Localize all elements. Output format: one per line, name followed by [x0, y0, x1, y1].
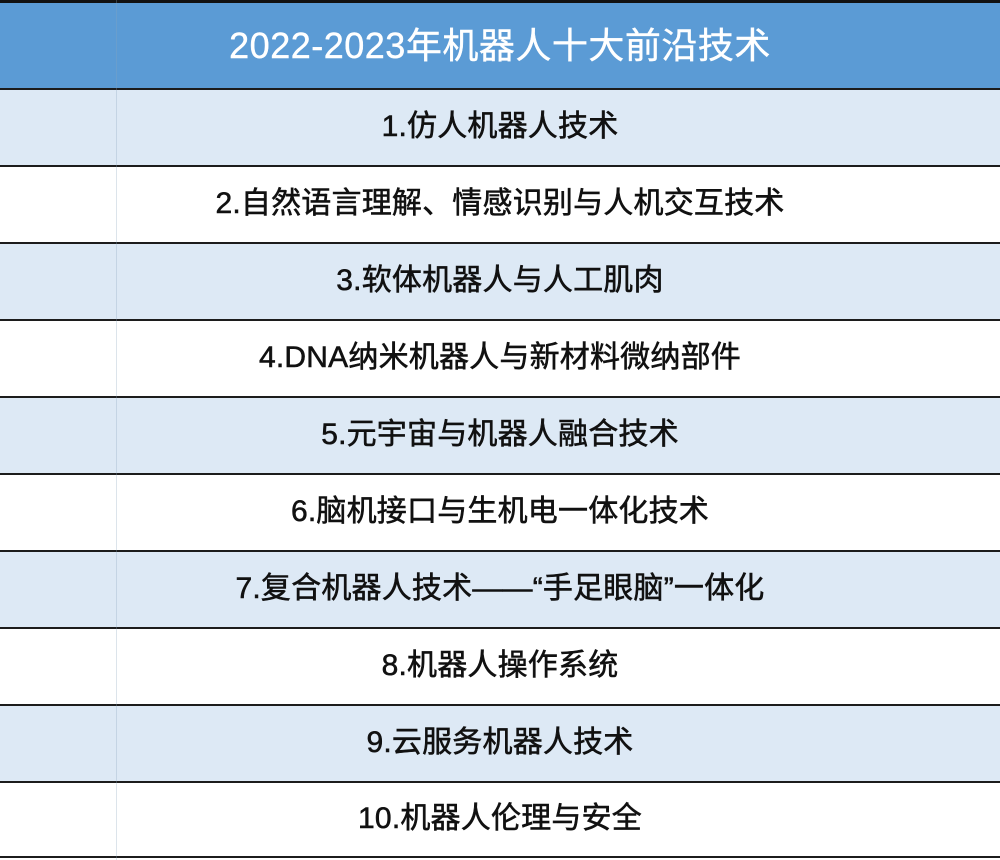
row-label-6: 6.脑机接口与生机电一体化技术: [291, 495, 709, 530]
row-label-10: 10.机器人伦理与安全: [358, 802, 642, 837]
table-row[interactable]: 4.DNA纳米机器人与新材料微纳部件: [0, 319, 1000, 396]
table-row[interactable]: 3.软体机器人与人工肌肉: [0, 242, 1000, 319]
table-header-row: 2022-2023年机器人十大前沿技术: [0, 0, 1000, 88]
row-label-5: 5.元宇宙与机器人融合技术: [321, 418, 679, 453]
table-row[interactable]: 9.云服务机器人技术: [0, 704, 1000, 781]
row-label-2: 2.自然语言理解、情感识别与人机交互技术: [215, 187, 784, 222]
table-row[interactable]: 5.元宇宙与机器人融合技术: [0, 396, 1000, 473]
technology-list-table: 2022-2023年机器人十大前沿技术 1.仿人机器人技术 2.自然语言理解、情…: [0, 0, 1000, 860]
row-label-9: 9.云服务机器人技术: [366, 726, 633, 761]
table-row[interactable]: 10.机器人伦理与安全: [0, 781, 1000, 858]
row-label-8: 8.机器人操作系统: [382, 649, 619, 684]
table-row[interactable]: 6.脑机接口与生机电一体化技术: [0, 473, 1000, 550]
table-row[interactable]: 7.复合机器人技术——“手足眼脑”一体化: [0, 550, 1000, 627]
row-label-1: 1.仿人机器人技术: [382, 110, 619, 145]
table-title: 2022-2023年机器人十大前沿技术: [229, 25, 771, 66]
row-label-3: 3.软体机器人与人工肌肉: [336, 264, 663, 299]
table-row[interactable]: 2.自然语言理解、情感识别与人机交互技术: [0, 165, 1000, 242]
table-row[interactable]: 1.仿人机器人技术: [0, 88, 1000, 165]
table-row[interactable]: 8.机器人操作系统: [0, 627, 1000, 704]
row-label-7: 7.复合机器人技术——“手足眼脑”一体化: [236, 572, 765, 607]
row-label-4: 4.DNA纳米机器人与新材料微纳部件: [259, 341, 741, 376]
